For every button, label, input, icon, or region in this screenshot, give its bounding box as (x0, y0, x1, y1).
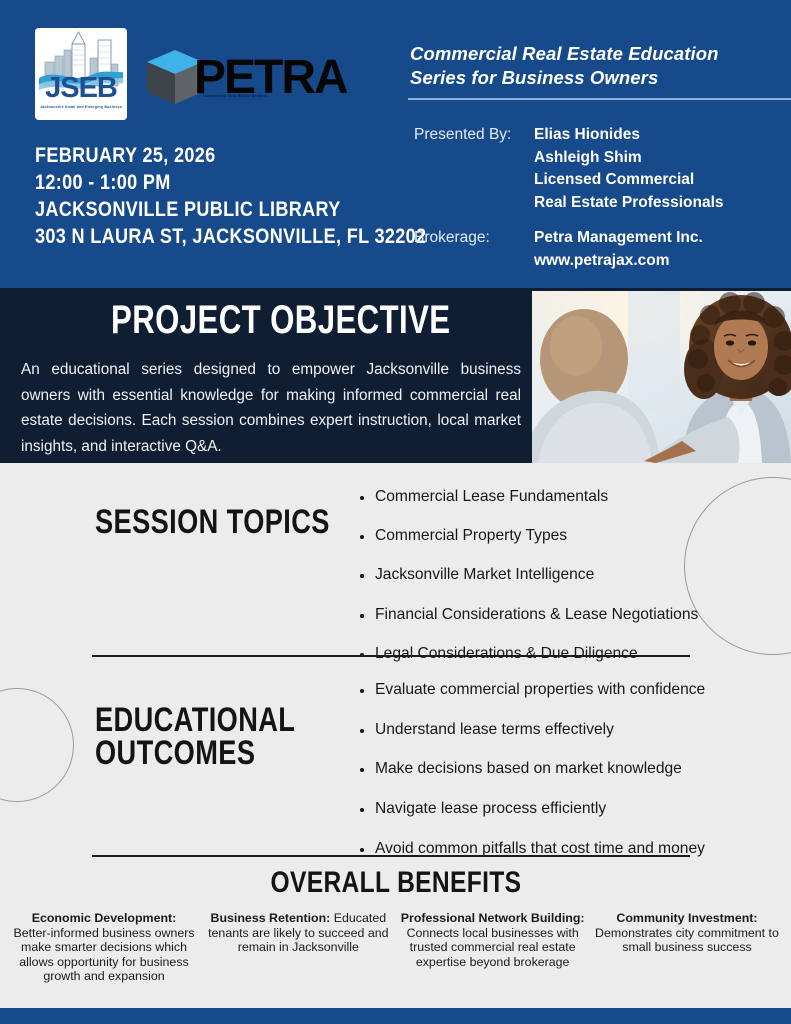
event-venue: JACKSONVILLE PUBLIC LIBRARY (35, 196, 345, 223)
headline-divider (408, 98, 791, 100)
presenter-role-2: Real Estate Professionals (534, 192, 724, 215)
presenter-role-1: Licensed Commercial (534, 169, 724, 192)
overall-benefits-grid: Economic Development: Better-informed bu… (12, 911, 779, 984)
section-divider-2 (92, 855, 690, 857)
footer-band (0, 1008, 791, 1024)
benefit-body: Connects local businesses with trusted c… (407, 926, 579, 969)
presented-by-label: Presented By: (414, 124, 534, 147)
educational-outcomes-title: EDUCATIONAL OUTCOMES (95, 704, 295, 769)
overall-benefits-title-text: OVERALL BENEFITS (270, 866, 521, 900)
benefit-column: Economic Development: Better-informed bu… (12, 911, 196, 984)
educational-outcomes-title-line1: EDUCATIONAL (95, 704, 295, 737)
benefit-heading: Professional Network Building: (401, 911, 585, 925)
overall-benefits-title: OVERALL BENEFITS (0, 866, 791, 900)
presenter-name-1: Elias Hionides (534, 124, 724, 147)
list-item: Navigate lease process efficiently (357, 800, 705, 819)
list-item: Evaluate commercial properties with conf… (357, 681, 705, 700)
list-item: Commercial Lease Fundamentals (357, 488, 698, 507)
brokerage-label: Brokerage: (414, 227, 534, 250)
brokerage-website[interactable]: www.petrajax.com (534, 250, 703, 273)
session-topics-title: SESSION TOPICS (95, 506, 330, 539)
benefit-heading: Business Retention: (211, 911, 331, 925)
flyer-poster: JSEB Jacksonville Small and Emerging Bus… (0, 0, 791, 1024)
presenter-block: Presented By: Elias Hionides Ashleigh Sh… (414, 124, 789, 272)
list-item: Commercial Property Types (357, 527, 698, 546)
objective-text: An educational series designed to empowe… (21, 357, 521, 459)
educational-outcomes-title-line2: OUTCOMES (95, 737, 295, 770)
event-address: 303 N LAURA ST, JACKSONVILLE, FL 32202 (35, 223, 345, 250)
section-divider-1 (92, 655, 690, 657)
brokerage-name: Petra Management Inc. (534, 227, 703, 250)
jseb-wordmark: JSEB (35, 74, 127, 103)
presenter-spacer (414, 214, 789, 227)
jseb-logo: JSEB Jacksonville Small and Emerging Bus… (35, 28, 127, 120)
presenter-name-2: Ashleigh Shim (534, 147, 724, 170)
handshake-photo-illustration (532, 291, 791, 463)
list-item: Financial Considerations & Lease Negotia… (357, 606, 698, 625)
jseb-tagline: Jacksonville Small and Emerging Business (35, 105, 127, 109)
page-title-line2: Series for Business Owners (410, 66, 780, 90)
page-title: Commercial Real Estate Education Series … (410, 42, 780, 90)
petra-tagline: Commercial Real Estate Brokers (203, 94, 268, 98)
event-date: FEBRUARY 25, 2026 (35, 142, 345, 169)
presented-by-row: Presented By: Elias Hionides Ashleigh Sh… (414, 124, 789, 214)
benefit-heading: Economic Development: (32, 911, 177, 925)
list-item: Make decisions based on market knowledge (357, 760, 705, 779)
educational-outcomes-list: Evaluate commercial properties with conf… (357, 681, 705, 880)
petra-logo: PETRA Commercial Real Estate Brokers (145, 48, 320, 110)
benefit-column: Community Investment: Demonstrates city … (595, 911, 779, 955)
list-item: Understand lease terms effectively (357, 721, 705, 740)
benefit-heading: Community Investment: (616, 911, 757, 925)
benefit-body: Demonstrates city commitment to small bu… (595, 926, 779, 955)
brokerage-row: Brokerage: Petra Management Inc. www.pet… (414, 227, 789, 272)
event-time: 12:00 - 1:00 PM (35, 169, 345, 196)
benefit-body: Better-informed business owners make sma… (13, 926, 194, 984)
event-details: FEBRUARY 25, 2026 12:00 - 1:00 PM JACKSO… (35, 142, 395, 250)
page-title-line1: Commercial Real Estate Education (410, 42, 780, 66)
list-item: Jacksonville Market Intelligence (357, 566, 698, 585)
handshake-photo (532, 291, 791, 463)
benefit-column: Professional Network Building: Connects … (401, 911, 585, 969)
objective-title: PROJECT OBJECTIVE (111, 300, 451, 340)
benefit-column: Business Retention: Educated tenants are… (206, 911, 390, 955)
brokerage-values: Petra Management Inc. www.petrajax.com (534, 227, 703, 272)
presented-by-values: Elias Hionides Ashleigh Shim Licensed Co… (534, 124, 724, 214)
